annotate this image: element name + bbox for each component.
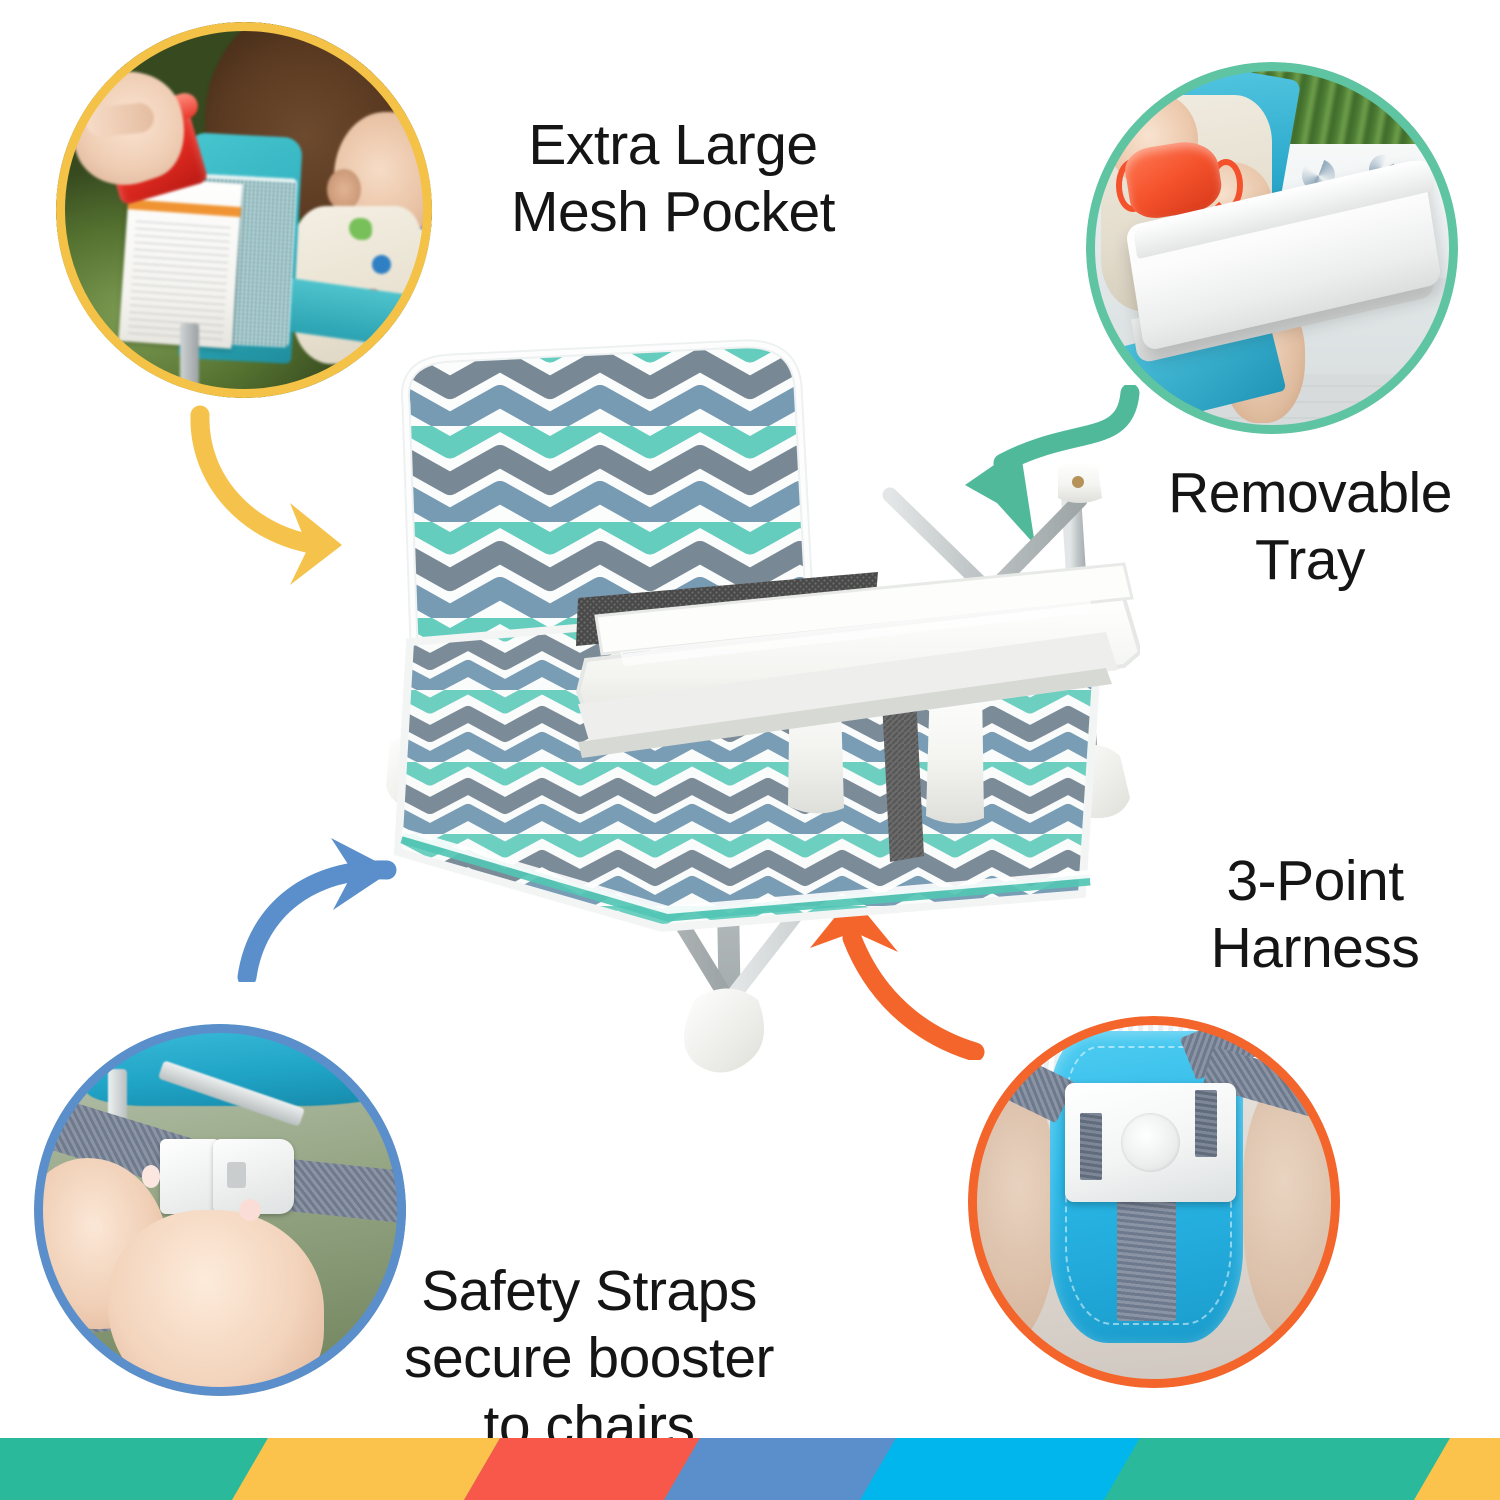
photo-removable-tray (1086, 62, 1458, 434)
photo-removable-tray-image (1086, 62, 1458, 434)
product-booster-seat (370, 330, 1140, 1170)
callout-label-safety-straps: Safety Straps secure booster to chairs (374, 1258, 804, 1460)
callout-label-removable-tray: Removable Tray (1125, 460, 1495, 595)
bottom-color-bar (0, 1438, 1500, 1500)
buckle-female-end (160, 1139, 220, 1213)
photo-safety-straps-image (34, 1024, 406, 1396)
photo-safety-straps (34, 1024, 406, 1396)
callout-label-mesh-pocket: Extra Large Mesh Pocket (463, 112, 883, 247)
foot-front-center (684, 988, 764, 1072)
infographic-canvas: Extra Large Mesh Pocket Removable Tray 3… (0, 0, 1500, 1500)
callout-label-three-point-harness: 3-Point Harness (1145, 848, 1485, 983)
